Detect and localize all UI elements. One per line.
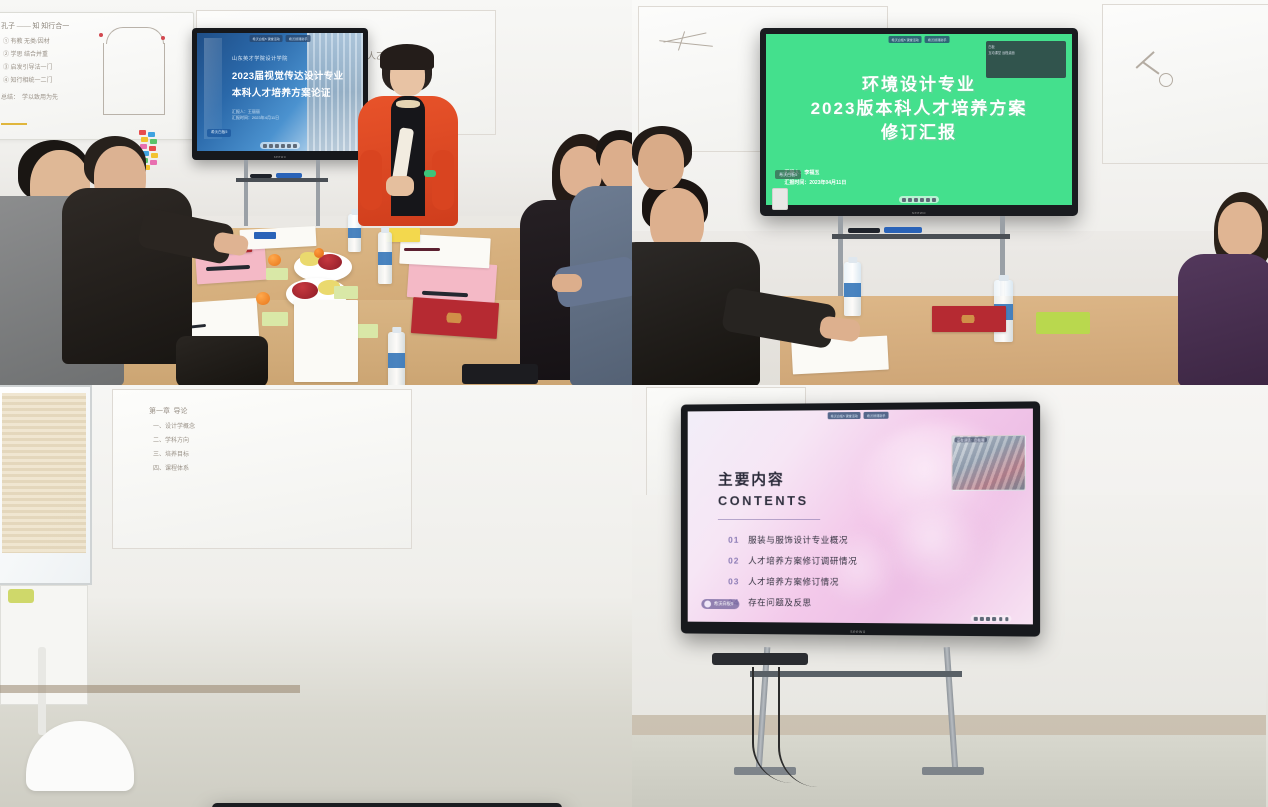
more-icon[interactable] [1005, 617, 1009, 621]
slide4-topbar: 希沃白板5 课堂活动 希沃授课助手 [828, 411, 889, 418]
whiteboard-line-2: ② 学思 结合并重 [3, 50, 48, 61]
float-panel-line-1: 互动课堂 远程桌面 [988, 50, 1064, 55]
topbar4-item-1[interactable]: 希沃授课助手 [864, 411, 889, 418]
display-stand-shelf [236, 178, 328, 182]
pen-icon[interactable] [908, 198, 912, 202]
pen-4[interactable] [404, 248, 440, 251]
slide4-toolbar[interactable] [971, 615, 1012, 622]
video-thumbnail-4[interactable]: 正在讲话：白板端 [952, 434, 1026, 490]
water-bottle-2[interactable] [378, 232, 392, 284]
slide-title-line2: 本科人才培养方案论证 [232, 85, 331, 99]
topbar-item-1[interactable]: 希沃授课助手 [286, 35, 311, 42]
whiteboard-underline [1, 123, 27, 125]
slide-title-line1: 2023届视觉传达设计专业 [232, 68, 344, 82]
display2-stand-leg [838, 216, 843, 296]
laptop-edge [462, 364, 538, 384]
whiteboard-panel2-right [1102, 4, 1268, 164]
display-brand: seewo [274, 155, 286, 159]
topbar2-item-0[interactable]: 希沃白板5 课堂活动 [889, 36, 922, 43]
contents-num-3: 03 [728, 577, 739, 587]
contents-item-4[interactable]: 04 存在问题及反思 [728, 597, 811, 609]
baseboard [0, 685, 300, 693]
panel-bottom-left: 第一章 导论 一、设计学概念 二、学科方向 三、培养目标 四、课程体系 希沃白板… [0, 385, 632, 807]
backpack [176, 336, 268, 385]
display-stand-leg-2 [316, 160, 320, 226]
orange-1 [268, 254, 281, 266]
plant-pot [8, 589, 34, 603]
display-stand-leg [244, 160, 248, 226]
attendee-p2c-head [1218, 202, 1262, 256]
wall-socket [772, 188, 788, 210]
smart-display-1[interactable]: 希沃白板5 课堂活动 希沃授课助手 山东英才学院设计学院 2023届视觉传达设计… [192, 28, 368, 160]
whiteboard-line-4: ④ 知行相统一二门 [3, 76, 53, 87]
cursor-icon[interactable] [974, 617, 978, 621]
attendee-4-head [600, 140, 632, 190]
eraser-icon[interactable] [986, 617, 990, 621]
cherries-2 [292, 282, 318, 299]
stylus-black-2[interactable] [848, 228, 880, 233]
wrist-band [424, 170, 436, 177]
smart-display-3[interactable]: 希沃白板5 课堂活动 希沃授课助手 D 设计学院 正在讲话：白板端 通专业.重实… [212, 803, 562, 807]
attendee-4-hand [552, 274, 582, 292]
whiteboard-left: 孔子 —— 知 知行合一 ① 有教 无类/因材 ② 学思 结合并重 ③ 启发引导… [0, 12, 194, 140]
whiteboard-mark-c [678, 31, 686, 50]
shape-icon[interactable] [281, 144, 285, 148]
slide4-divider [718, 519, 820, 521]
classroom-window [0, 385, 92, 585]
decor-blob-2 [886, 504, 991, 599]
thumb-label-4: 正在讲话：白板端 [955, 437, 987, 442]
select-icon[interactable] [926, 198, 930, 202]
whiteboard-panel3: 第一章 导论 一、设计学概念 二、学科方向 三、培养目标 四、课程体系 [112, 389, 412, 549]
pen-icon[interactable] [980, 617, 984, 621]
slide2-topbar: 希沃白板5 课堂活动 希沃授课助手 [889, 36, 950, 43]
green-folder-p2[interactable] [1036, 312, 1090, 334]
whiteboard-line-1: ① 有教 无类/因材 [3, 37, 50, 48]
slide2-title-line3: 修订汇报 [766, 118, 1072, 143]
pen-icon[interactable] [269, 144, 273, 148]
panel-bottom-right: 希沃白板5 课堂活动 希沃授课助手 正在讲话：白板端 主要内容 CONTENTS… [632, 385, 1268, 807]
shape-icon[interactable] [920, 198, 924, 202]
red-folder-2[interactable] [411, 297, 499, 339]
slide-org: 山东英才学院设计学院 [232, 55, 288, 62]
contents-text-3: 人才培养方案修订情况 [748, 576, 839, 588]
stylus-blue[interactable] [276, 173, 302, 178]
presenter-hands [386, 176, 414, 196]
topbar-item-0[interactable]: 希沃白板5 课堂活动 [250, 35, 283, 42]
tissue-pack-3 [262, 312, 288, 326]
topbar4-item-0[interactable]: 希沃白板5 课堂活动 [828, 411, 861, 418]
slide4-badge: 希沃白板5 [701, 599, 739, 609]
stylus-black[interactable] [250, 174, 272, 178]
contents-text-1: 服装与服饰设计专业概况 [748, 533, 848, 545]
orange-on-plate [314, 248, 324, 258]
photo-collage-grid: 孔子 —— 知 知行合一 ① 有教 无类/因材 ② 学思 结合并重 ③ 启发引导… [0, 0, 1268, 807]
cursor-icon[interactable] [263, 144, 267, 148]
display-brand-4: seewo [850, 629, 865, 634]
whiteboard-sketch [103, 43, 165, 115]
wb-scrawl-3 [1159, 73, 1173, 87]
slide4-title-cn: 主要内容 [718, 468, 785, 489]
select-icon[interactable] [287, 144, 291, 148]
contents-num-1: 01 [728, 534, 739, 544]
panel-top-right: 希沃白板5 课堂活动 希沃授课助手 白板 互动课堂 远程桌面 环境设计专业 20… [632, 0, 1268, 385]
tissue-pack-2 [334, 286, 358, 299]
contents-item-2[interactable]: 02 人才培养方案修订调研情况 [728, 554, 857, 566]
slide-decoration [204, 38, 222, 139]
smart-display-2[interactable]: 希沃白板5 课堂活动 希沃授课助手 白板 互动课堂 远程桌面 环境设计专业 20… [760, 28, 1078, 216]
slide2-title-line1: 环境设计专业 [766, 70, 1072, 95]
stylus-blue-2[interactable] [884, 227, 922, 233]
slide-meta-date: 汇报时间：2023年4月11日 [232, 115, 279, 121]
slide2-badge: 希沃白板5 [775, 170, 801, 179]
whiteboard-line-5: 总结： 学以致用为先 [1, 93, 58, 104]
contents-item-1[interactable]: 01 服装与服饰设计专业概况 [728, 533, 848, 545]
whiteboard-mark-b [659, 40, 713, 47]
topbar2-item-1[interactable]: 希沃授课助手 [925, 36, 950, 43]
slide-environment-design: 希沃白板5 课堂活动 希沃授课助手 白板 互动课堂 远程桌面 环境设计专业 20… [766, 34, 1072, 205]
slide-topbar: 希沃白板5 课堂活动 希沃授课助手 [250, 35, 311, 42]
water-bottle-3[interactable] [388, 332, 405, 385]
slide2-toolbar[interactable] [899, 196, 939, 203]
power-strip-4 [712, 653, 808, 665]
presenter-necklace [396, 100, 420, 108]
panel-top-left: 孔子 —— 知 知行合一 ① 有教 无类/因材 ② 学思 结合并重 ③ 启发引导… [0, 0, 632, 385]
window-blinds[interactable] [2, 393, 86, 553]
wb-scrawl-1 [1136, 51, 1155, 68]
orange-2 [256, 292, 270, 305]
sketch-dot-red [99, 33, 103, 37]
slide-toolbar[interactable] [260, 142, 300, 149]
presenter-arm-left [360, 150, 382, 210]
slide-badge: 希沃白板5 [207, 129, 231, 137]
slide-visual-design: 希沃白板5 课堂活动 希沃授课助手 山东英才学院设计学院 2023届视觉传达设计… [197, 33, 363, 151]
select-icon[interactable] [999, 617, 1003, 621]
red-folder-p2[interactable] [932, 306, 1006, 332]
attendee-p2b-head [638, 134, 684, 190]
contents-text-4: 存在问题及反思 [748, 597, 811, 609]
contents-num-2: 02 [728, 555, 739, 565]
slide2-meta-date: 汇报时间：2023年04月11日 [784, 179, 846, 188]
wb-scrawl-2 [1142, 61, 1159, 74]
eraser-icon[interactable] [275, 144, 279, 148]
slide-contents: 希沃白板5 课堂活动 希沃授课助手 正在讲话：白板端 主要内容 CONTENTS… [688, 409, 1033, 625]
shape-icon[interactable] [993, 617, 997, 621]
contents-item-3[interactable]: 03 人才培养方案修订情况 [728, 576, 839, 588]
water-bottle-p2-1[interactable] [844, 262, 861, 316]
display2-stand-shelf [832, 234, 1010, 239]
power-cable-4b [778, 667, 824, 787]
attendee-p2c-body [1178, 254, 1268, 385]
smart-display-4[interactable]: 希沃白板5 课堂活动 希沃授课助手 正在讲话：白板端 主要内容 CONTENTS… [681, 401, 1040, 636]
tissue-pack-1 [266, 268, 288, 280]
document-2[interactable] [240, 226, 317, 250]
presenter-fringe [380, 44, 434, 70]
slide2-title-line2: 2023版本科人才培养方案 [766, 94, 1072, 119]
phone-1[interactable] [254, 232, 276, 239]
display-brand-2: seewo [912, 210, 926, 215]
slide-meta: 汇报人：王丽丽 汇报时间：2023年4月11日 [232, 109, 279, 121]
cursor-icon[interactable] [902, 198, 906, 202]
table-runner [294, 300, 358, 382]
sketch-dot-red-2 [161, 36, 165, 40]
display4-stand-foot-2 [922, 767, 984, 775]
eraser-icon[interactable] [914, 198, 918, 202]
contents-text-2: 人才培养方案修订调研情况 [748, 555, 857, 567]
presenter-arm-right [432, 150, 454, 210]
more-icon[interactable] [293, 144, 297, 148]
slide4-title-en: CONTENTS [718, 493, 809, 508]
whiteboard-line-3: ③ 启发引导法一门 [3, 63, 53, 74]
more-icon[interactable] [932, 198, 936, 202]
whiteboard-heading: 孔子 —— 知 知行合一 [1, 21, 69, 32]
float-panel-line-0: 白板 [988, 44, 1064, 49]
